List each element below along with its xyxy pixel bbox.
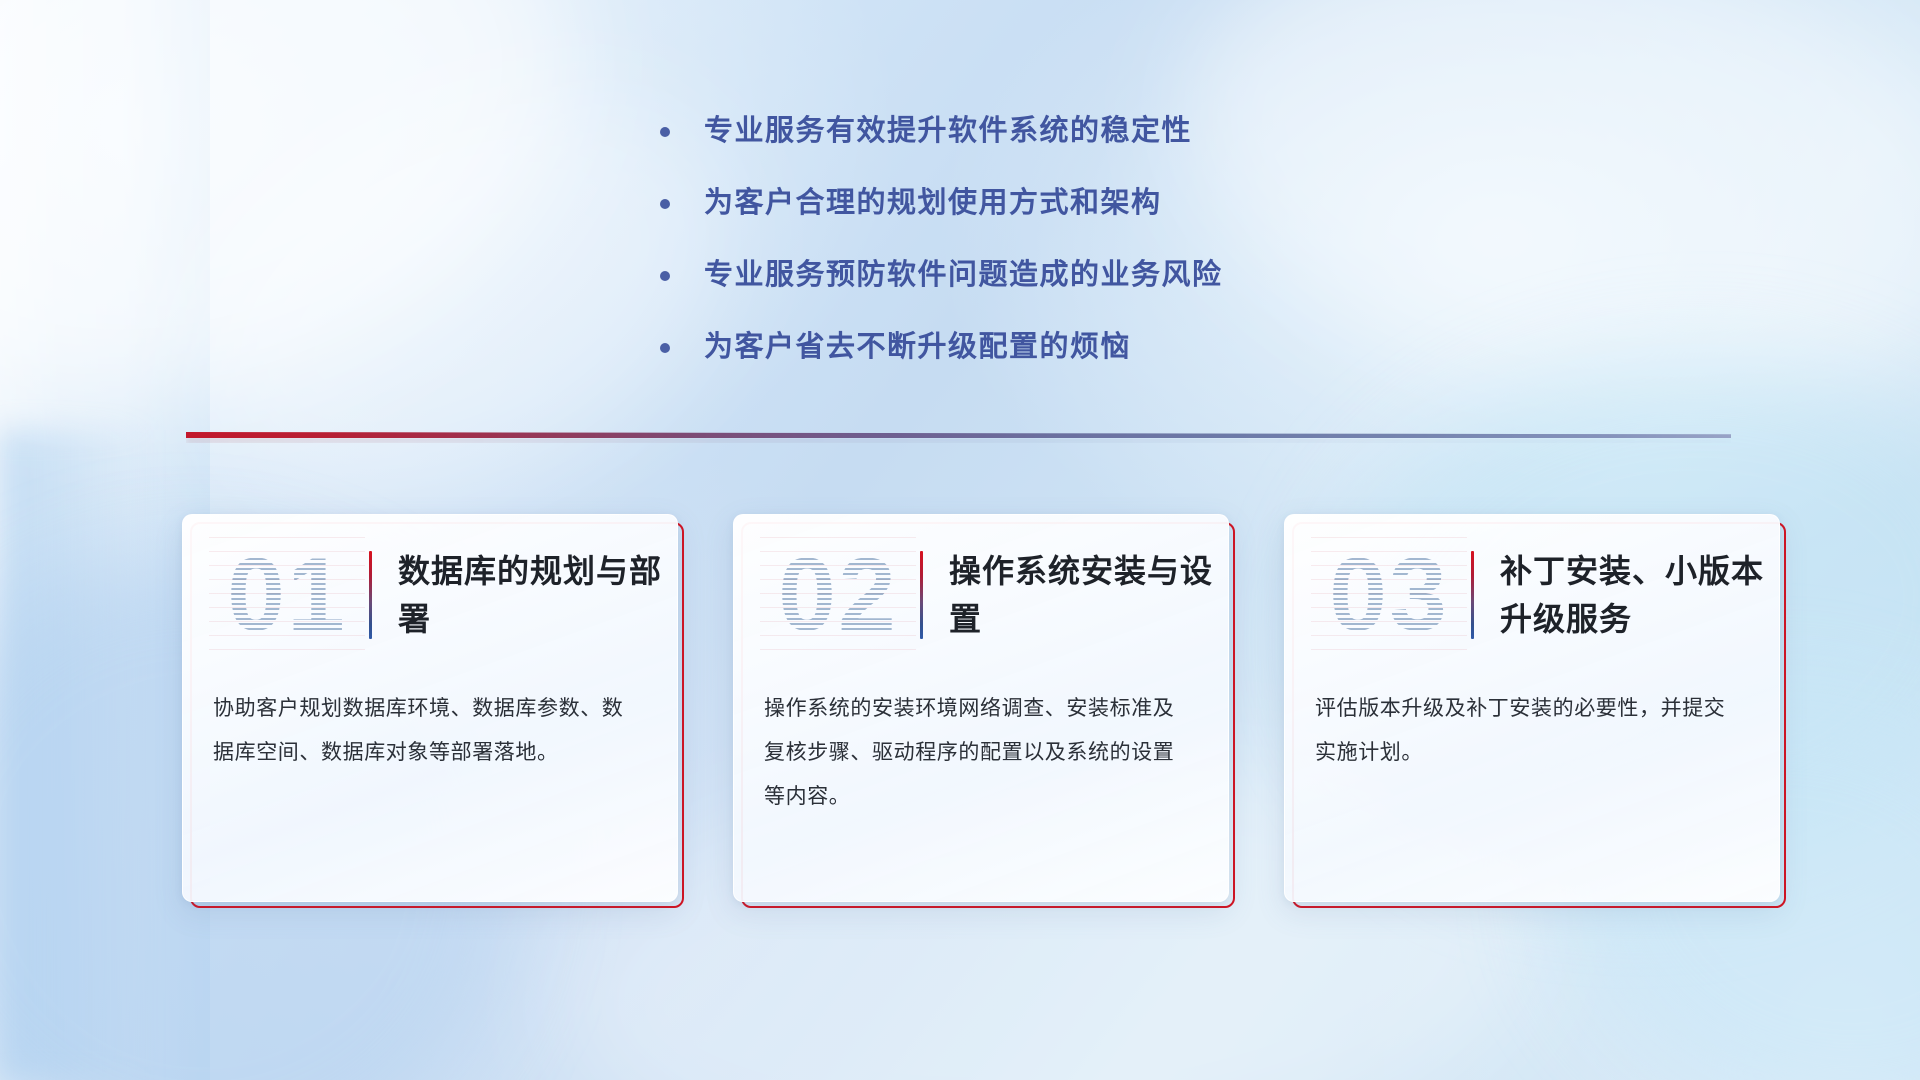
card-title: 补丁安装、小版本升级服务 bbox=[1500, 547, 1773, 643]
card-surface: 01 数据库的规划与部署 协助客户规划数据库环境、数据库参数、数据库空间、数据库… bbox=[182, 514, 678, 902]
card-header: 01 数据库的规划与部署 bbox=[183, 515, 677, 675]
bullet-item: 为客户合理的规划使用方式和架构 bbox=[660, 182, 1480, 224]
bullet-label: 专业服务预防软件问题造成的业务风险 bbox=[704, 254, 1223, 296]
bullet-label: 为客户省去不断升级配置的烦恼 bbox=[704, 326, 1131, 368]
card-header: 03 补丁安装、小版本升级服务 bbox=[1285, 515, 1779, 675]
background-left-band bbox=[0, 0, 210, 1080]
card-number-watermark: 01 bbox=[213, 543, 361, 647]
card-description: 协助客户规划数据库环境、数据库参数、数据库空间、数据库对象等部署落地。 bbox=[183, 675, 677, 775]
section-divider-line bbox=[186, 432, 1731, 438]
slide-canvas: 专业服务有效提升软件系统的稳定性 为客户合理的规划使用方式和架构 专业服务预防软… bbox=[0, 0, 1920, 1080]
bullet-dot-icon bbox=[660, 199, 670, 209]
bullet-label: 专业服务有效提升软件系统的稳定性 bbox=[704, 110, 1192, 152]
benefit-bullet-list: 专业服务有效提升软件系统的稳定性 为客户合理的规划使用方式和架构 专业服务预防软… bbox=[660, 110, 1480, 398]
card-title: 数据库的规划与部署 bbox=[398, 547, 671, 643]
bullet-dot-icon bbox=[660, 343, 670, 353]
card-surface: 03 补丁安装、小版本升级服务 评估版本升级及补丁安装的必要性，并提交实施计划。 bbox=[1284, 514, 1780, 902]
bullet-dot-icon bbox=[660, 127, 670, 137]
card-description: 评估版本升级及补丁安装的必要性，并提交实施计划。 bbox=[1285, 675, 1779, 775]
service-card[interactable]: 02 操作系统安装与设置 操作系统的安装环境网络调查、安装标准及复核步骤、驱动程… bbox=[733, 514, 1229, 902]
service-card-group: 01 数据库的规划与部署 协助客户规划数据库环境、数据库参数、数据库空间、数据库… bbox=[182, 514, 1782, 914]
service-card[interactable]: 01 数据库的规划与部署 协助客户规划数据库环境、数据库参数、数据库空间、数据库… bbox=[182, 514, 678, 902]
bullet-item: 专业服务有效提升软件系统的稳定性 bbox=[660, 110, 1480, 152]
card-number-watermark: 02 bbox=[764, 543, 912, 647]
card-divider-rule bbox=[920, 551, 923, 639]
card-header: 02 操作系统安装与设置 bbox=[734, 515, 1228, 675]
section-divider-shadow bbox=[186, 438, 1731, 443]
section-divider bbox=[186, 430, 1731, 444]
card-divider-rule bbox=[1471, 551, 1474, 639]
card-number-watermark: 03 bbox=[1315, 543, 1463, 647]
card-surface: 02 操作系统安装与设置 操作系统的安装环境网络调查、安装标准及复核步骤、驱动程… bbox=[733, 514, 1229, 902]
service-card[interactable]: 03 补丁安装、小版本升级服务 评估版本升级及补丁安装的必要性，并提交实施计划。 bbox=[1284, 514, 1780, 902]
bullet-label: 为客户合理的规划使用方式和架构 bbox=[704, 182, 1162, 224]
card-title: 操作系统安装与设置 bbox=[949, 547, 1222, 643]
bullet-dot-icon bbox=[660, 271, 670, 281]
bullet-item: 专业服务预防软件问题造成的业务风险 bbox=[660, 254, 1480, 296]
bullet-item: 为客户省去不断升级配置的烦恼 bbox=[660, 326, 1480, 368]
card-description: 操作系统的安装环境网络调查、安装标准及复核步骤、驱动程序的配置以及系统的设置等内… bbox=[734, 675, 1228, 819]
background-left-glow bbox=[0, 430, 150, 1080]
background-glow-top-left bbox=[0, 0, 642, 485]
card-divider-rule bbox=[369, 551, 372, 639]
